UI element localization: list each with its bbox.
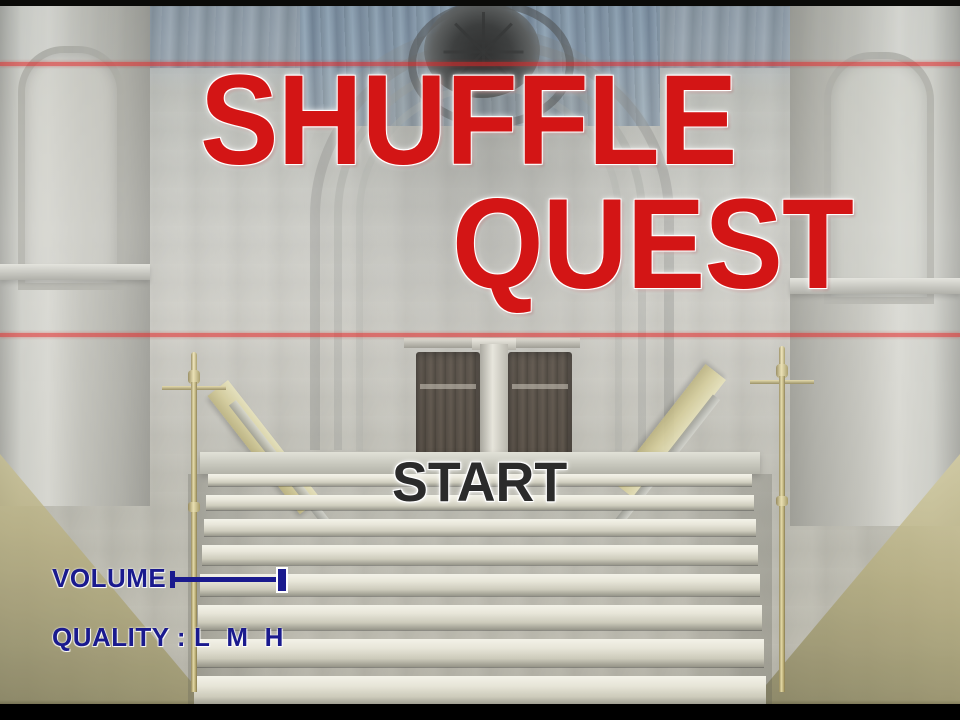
volume-slider[interactable] [170, 564, 292, 594]
start-button[interactable]: START [392, 449, 567, 514]
quality-option-m[interactable]: M [226, 622, 248, 653]
left-tower-cornice [0, 264, 150, 280]
letterbox-bottom [0, 704, 960, 720]
volume-label: VOLUME [52, 563, 166, 594]
game-title-line2: QUEST [452, 186, 853, 304]
volume-row: VOLUME [52, 563, 292, 594]
quality-label: QUALITY : [52, 622, 186, 653]
staircase-step [204, 519, 756, 536]
volume-slider-track[interactable] [172, 577, 280, 582]
quality-option-l[interactable]: L [194, 622, 210, 653]
quality-options: LMH [194, 622, 284, 653]
door-left-band [420, 384, 476, 389]
door-left [416, 352, 480, 460]
game-title-screen: SHUFFLE QUEST START VOLUME QUALITY : LMH [0, 0, 960, 720]
door-right-band [512, 384, 568, 389]
door-center-pillar [480, 344, 508, 462]
quality-option-h[interactable]: H [265, 622, 284, 653]
staircase-step [194, 676, 766, 704]
game-title-line1: SHUFFLE [200, 62, 737, 180]
right-lamp-post-icon [776, 346, 788, 692]
left-tower-arch-icon [18, 46, 124, 290]
staircase-step [202, 545, 758, 565]
volume-slider-thumb[interactable] [276, 567, 288, 593]
quality-row: QUALITY : LMH [52, 622, 284, 653]
door-right [508, 352, 572, 460]
letterbox-top [0, 0, 960, 6]
left-tower [0, 6, 150, 506]
